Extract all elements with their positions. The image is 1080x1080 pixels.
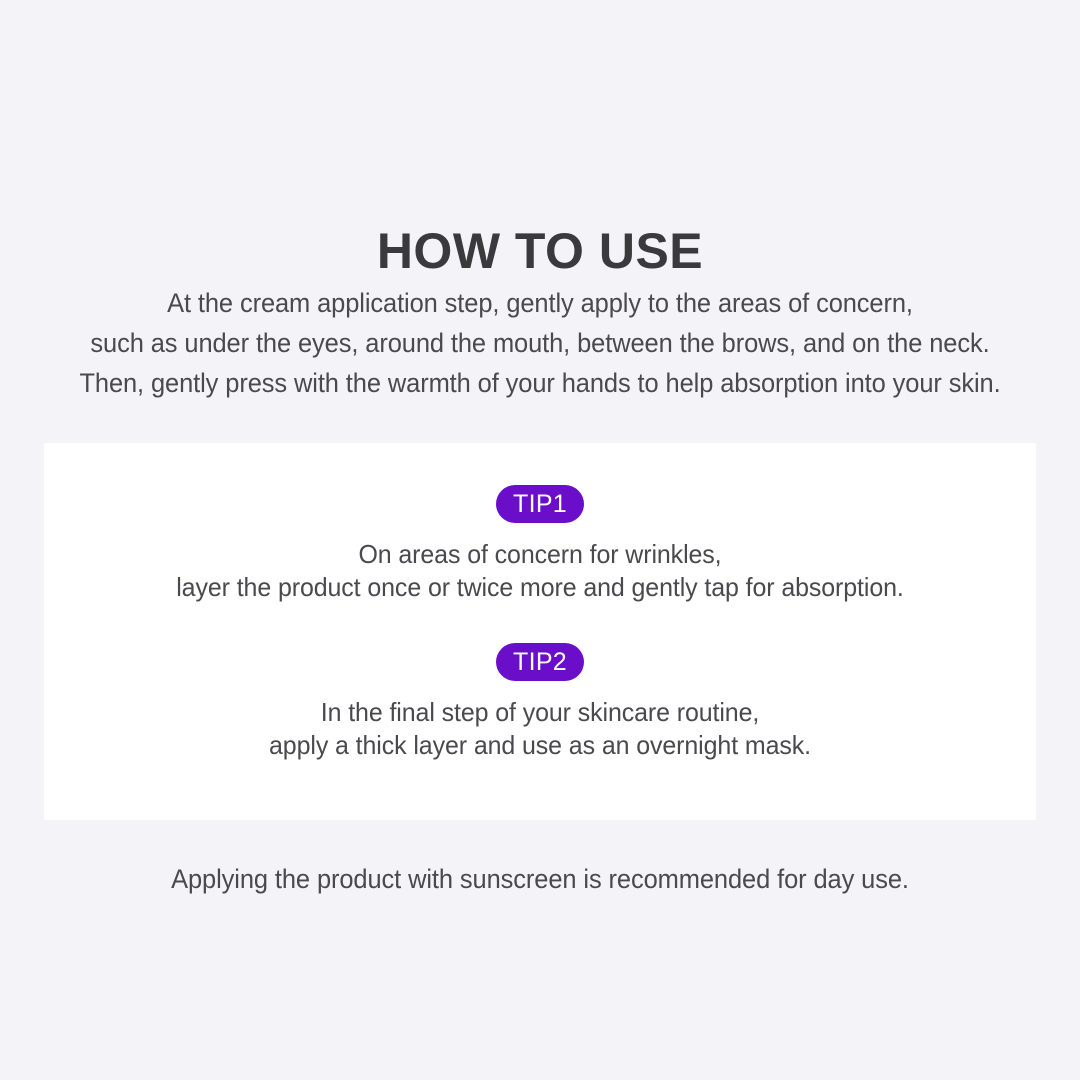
tip-block-2: TIP2 In the final step of your skincare … (44, 643, 1036, 762)
tip2-line-2: apply a thick layer and use as an overni… (64, 729, 1016, 762)
tip2-text: In the final step of your skincare routi… (44, 696, 1036, 762)
tip2-badge: TIP2 (496, 643, 584, 681)
footer-note-line-1: Applying the product with sunscreen is r… (22, 862, 1059, 896)
tip1-text: On areas of concern for wrinkles, layer … (44, 538, 1036, 604)
how-to-use-panel: HOW TO USE At the cream application step… (0, 0, 1080, 1080)
intro-line-3: Then, gently press with the warmth of yo… (22, 363, 1059, 403)
footer-note: Applying the product with sunscreen is r… (0, 862, 1080, 896)
tip1-line-2: layer the product once or twice more and… (64, 571, 1016, 604)
tips-card: TIP1 On areas of concern for wrinkles, l… (44, 443, 1036, 820)
tip-block-1: TIP1 On areas of concern for wrinkles, l… (44, 485, 1036, 604)
tip2-line-1: In the final step of your skincare routi… (64, 696, 1016, 729)
tip1-badge: TIP1 (496, 485, 584, 523)
tip1-line-1: On areas of concern for wrinkles, (64, 538, 1016, 571)
page-title: HOW TO USE (0, 224, 1080, 279)
intro-paragraph: At the cream application step, gently ap… (0, 283, 1080, 403)
intro-line-2: such as under the eyes, around the mouth… (22, 323, 1059, 363)
intro-line-1: At the cream application step, gently ap… (22, 283, 1059, 323)
